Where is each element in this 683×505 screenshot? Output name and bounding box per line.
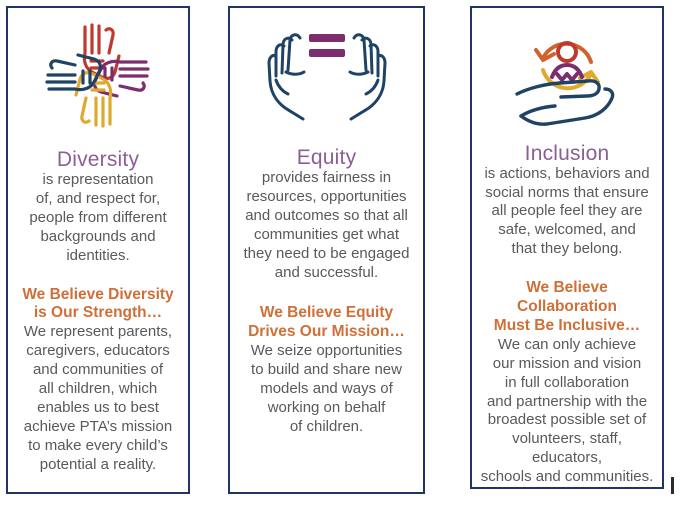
definition-text-equity: provides fairness in resources, opportun… [244, 169, 410, 280]
definition-diversity: Diversity is representation of, and resp… [8, 148, 188, 266]
term-equity: Equity [236, 146, 417, 169]
term-inclusion: Inclusion [478, 142, 656, 165]
believe-heading-equity: We Believe Equity Drives Our Mission… [230, 304, 423, 342]
believe-body-equity: We seize opportunities to build and shar… [230, 342, 423, 436]
card-inclusion: Inclusion is actions, behaviors and soci… [470, 6, 664, 489]
definition-text-inclusion: is actions, behaviors and social norms t… [484, 165, 649, 258]
term-diversity: Diversity [16, 148, 180, 171]
four-interlocking-hands-icon [38, 16, 158, 136]
hand-holding-person-in-circular-arrows-icon [505, 14, 629, 130]
definition-text-diversity: is representation of, and respect for, p… [29, 171, 166, 264]
believe-body-diversity: We represent parents, caregivers, educat… [8, 323, 188, 474]
card-diversity: Diversity is representation of, and resp… [6, 6, 190, 494]
believe-body-inclusion: We can only achieve our mission and visi… [472, 336, 662, 487]
cupped-hands-with-equals-sign-icon [264, 20, 390, 124]
believe-heading-diversity: We Believe Diversity is Our Strength… [8, 286, 188, 324]
diversity-equity-inclusion-board: Diversity is representation of, and resp… [0, 0, 683, 505]
stray-tick-artifact [671, 477, 674, 494]
icon-wrap-diversity [8, 8, 188, 148]
definition-inclusion: Inclusion is actions, behaviors and soci… [472, 142, 662, 260]
icon-wrap-inclusion [472, 8, 662, 142]
icon-wrap-equity [230, 8, 423, 146]
card-equity: Equity provides fairness in resources, o… [228, 6, 425, 494]
equals-sign-glyph [309, 34, 345, 57]
believe-heading-inclusion: We Believe Collaboration Must Be Inclusi… [472, 279, 662, 336]
definition-equity: Equity provides fairness in resources, o… [230, 146, 423, 282]
